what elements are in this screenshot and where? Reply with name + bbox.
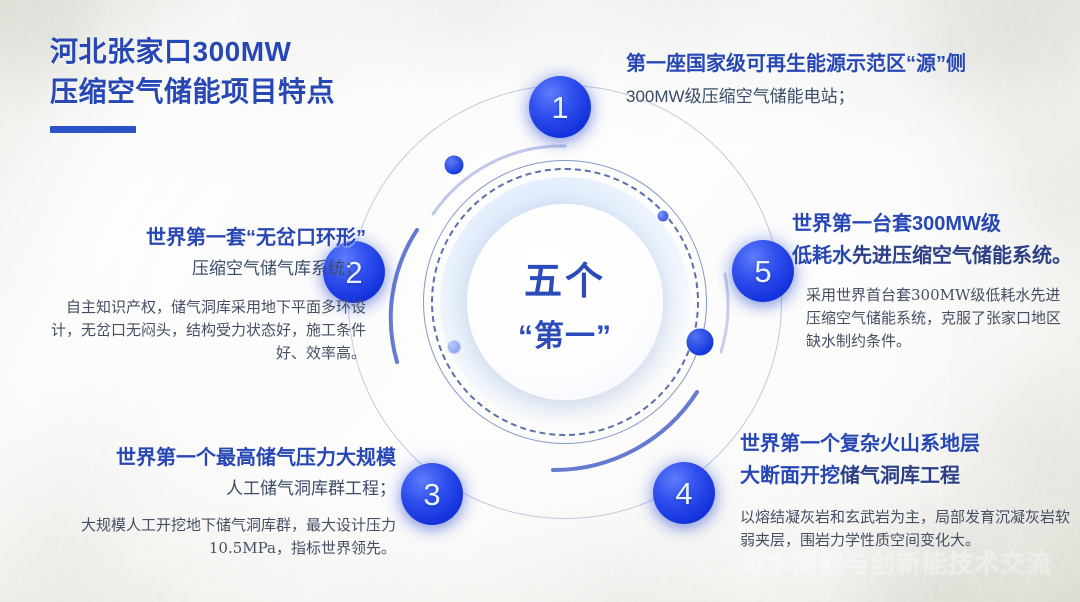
accent-dot-lower-left <box>448 341 461 354</box>
feature-3-heading: 世界第一个最高储气压力大规模 <box>46 442 396 474</box>
number-badge-3[interactable]: 3 <box>401 463 463 525</box>
feature-4-heading-line-2: 大断面开挖储气洞库工程 <box>740 460 1070 492</box>
accent-dot-upper-right <box>658 211 669 222</box>
feature-3-subtext: 人工储气洞库群工程； <box>46 474 396 504</box>
feature-2-subtext: 压缩空气储气库系统； <box>46 254 366 284</box>
feature-block-3: 世界第一个最高储气压力大规模 人工储气洞库群工程； 大规模人工开挖地下储气洞库群… <box>46 442 396 560</box>
feature-4-body: 以熔结凝灰岩和玄武岩为主，局部发育沉凝灰岩软弱夹层，围岩力学性质空间变化大。 <box>740 506 1070 552</box>
page-title: 河北张家口300MW 压缩空气储能项目特点 <box>50 32 335 133</box>
center-label-line-1: 五个 <box>524 250 606 305</box>
feature-block-4: 世界第一个复杂火山系地层 大断面开挖储气洞库工程 以熔结凝灰岩和玄武岩为主，局部… <box>740 428 1070 552</box>
feature-3-body: 大规模人工开挖地下储气洞库群，最大设计压力10.5MPa，指标世界领先。 <box>46 514 396 560</box>
feature-2-heading: 世界第一套“无岔口环形” <box>46 222 366 254</box>
feature-5-heading-plain: 先进压缩空气储能系统。 <box>852 245 1072 267</box>
number-badge-4[interactable]: 4 <box>653 462 715 524</box>
feature-block-5: 世界第一台套300MW级 低耗水先进压缩空气储能系统。 采用世界首台套300MW… <box>792 208 1068 353</box>
feature-4-heading-line-1: 世界第一个复杂火山系地层 <box>740 428 1070 460</box>
center-label-line-2: “第一” <box>518 311 612 355</box>
center-label-disc: 五个 “第一” <box>467 204 663 400</box>
feature-4-heading-plain: 储气洞库工程 <box>840 465 960 487</box>
feature-4-heading-emphasis: 大断面开挖 <box>740 465 840 487</box>
infographic-slide: 河北张家口300MW 压缩空气储能项目特点 五个 “第一” 1 2 3 4 5 … <box>0 0 1080 602</box>
feature-5-heading-line-2: 低耗水先进压缩空气储能系统。 <box>792 240 1068 272</box>
number-badge-5[interactable]: 5 <box>732 240 794 302</box>
accent-dot-lower-right <box>687 329 714 356</box>
feature-5-body: 采用世界首台套300MW级低耗水先进压缩空气储能系统，克服了张家口地区缺水制约条… <box>792 284 1068 353</box>
feature-2-body: 自主知识产权，储气洞库采用地下平面多环设计，无岔口无闷头，结构受力状态好，施工条… <box>46 296 366 365</box>
feature-1-subtext: 300MW级压缩空气储能电站； <box>626 82 1046 112</box>
feature-block-1: 第一座国家级可再生能源示范区“源”侧 300MW级压缩空气储能电站； <box>626 48 1046 112</box>
title-line-1: 河北张家口300MW <box>50 32 335 72</box>
feature-5-heading-emphasis: 低耗水 <box>792 245 852 267</box>
title-underline-rule <box>50 126 136 133</box>
feature-1-heading: 第一座国家级可再生能源示范区“源”侧 <box>626 48 1046 80</box>
title-line-2: 压缩空气储能项目特点 <box>50 72 335 112</box>
accent-dot-upper-left <box>445 156 464 175</box>
feature-5-heading-line-1: 世界第一台套300MW级 <box>792 208 1068 240</box>
feature-block-2: 世界第一套“无岔口环形” 压缩空气储气库系统； 自主知识产权，储气洞库采用地下平… <box>46 222 366 365</box>
number-badge-1[interactable]: 1 <box>529 76 591 138</box>
